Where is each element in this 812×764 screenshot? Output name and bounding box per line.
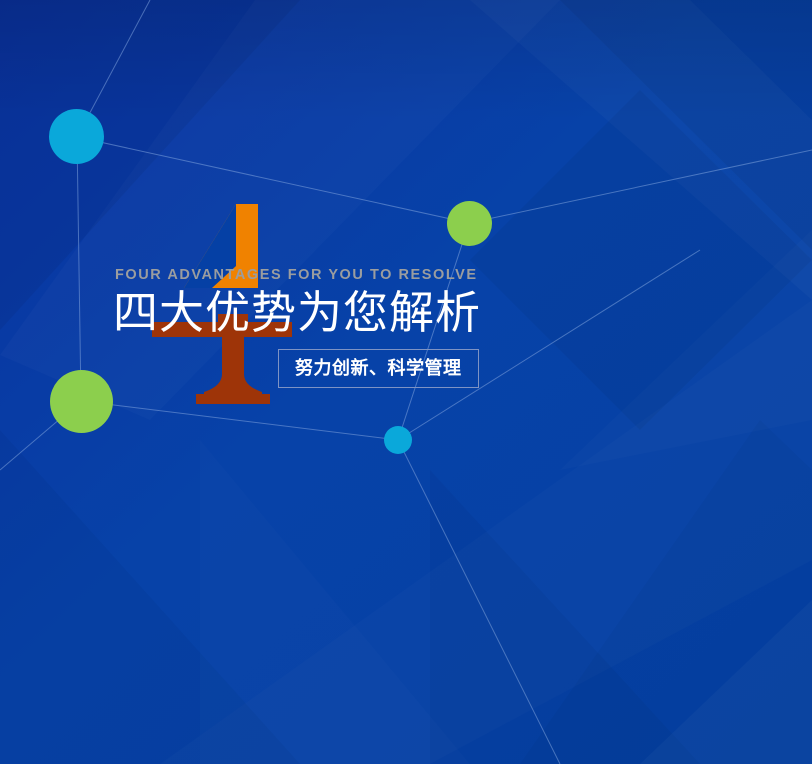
decorative-node-green-large [50, 370, 113, 433]
decorative-node-green-medium [447, 201, 492, 246]
banner-tagline-badge[interactable]: 努力创新、科学管理 [278, 349, 479, 388]
promo-banner: FOUR ADVANTAGES FOR YOU TO RESOLVE 四大优势为… [0, 0, 812, 764]
banner-text-block: FOUR ADVANTAGES FOR YOU TO RESOLVE 四大优势为… [113, 268, 713, 388]
decorative-node-cyan-large [49, 109, 104, 164]
banner-tagline-row: 努力创新、科学管理 [113, 349, 713, 388]
decorative-node-cyan-small [384, 426, 412, 454]
banner-headline: 四大优势为您解析 [113, 289, 713, 338]
banner-eyebrow-text: FOUR ADVANTAGES FOR YOU TO RESOLVE [115, 268, 713, 283]
